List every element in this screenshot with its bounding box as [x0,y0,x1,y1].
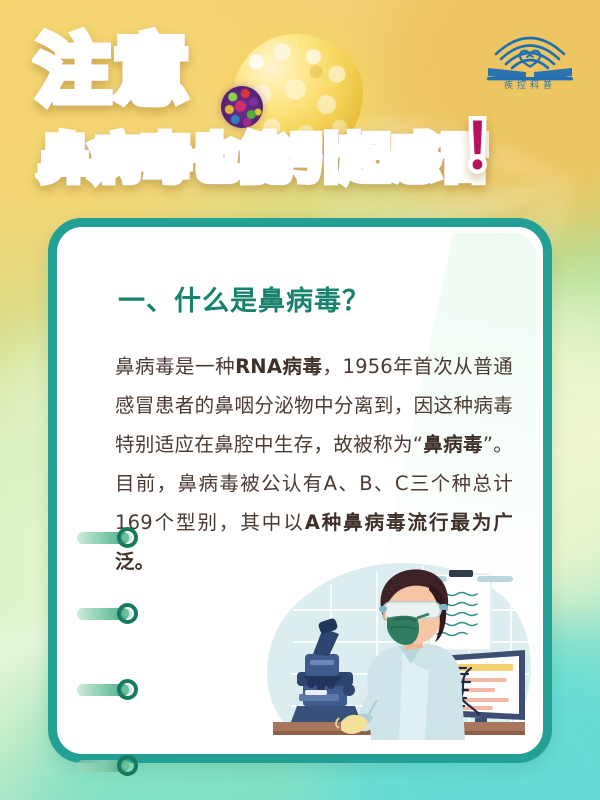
poster-title-main: 注意 [36,36,192,106]
spiral-ring [77,527,143,548]
spiral-ring-loop [117,679,138,700]
body-text-bold: RNA病毒 [235,355,322,378]
content-card: 一、什么是鼻病毒？ 鼻病毒是一种RNA病毒，1956年首次从普通感冒患者的鼻咽分… [48,218,552,763]
body-text-part: 鼻病毒是一种 [115,355,235,378]
spiral-binding [77,527,147,800]
scientist-at-microscope-illustration [253,550,537,740]
poster-title-sub: 鼻病毒也能引起感冒 [40,133,490,185]
section-heading: 一、什么是鼻病毒？ [118,279,370,318]
spiral-ring [77,755,143,776]
spiral-ring [77,679,143,700]
spiral-ring-loop [117,527,138,548]
cdc-health-education-logo: 疾控科普 [482,24,578,90]
spiral-ring [77,603,143,624]
poster-title-exclamation: ！ [462,116,524,178]
logo-caption: 疾控科普 [482,78,578,91]
spiral-ring-loop [117,603,138,624]
spiral-ring-loop [117,755,138,776]
poster-header: 注意 鼻病毒也能引起感冒 ！ 疾控科普 [0,0,600,215]
body-paragraph: 鼻病毒是一种RNA病毒，1956年首次从普通感冒患者的鼻咽分泌物中分离到，因这种… [115,347,513,581]
body-text-bold: 鼻病毒 [423,433,483,456]
infographic-poster: 注意 鼻病毒也能引起感冒 ！ 疾控科普 [0,0,600,800]
virus-particle-small-icon [221,86,263,128]
